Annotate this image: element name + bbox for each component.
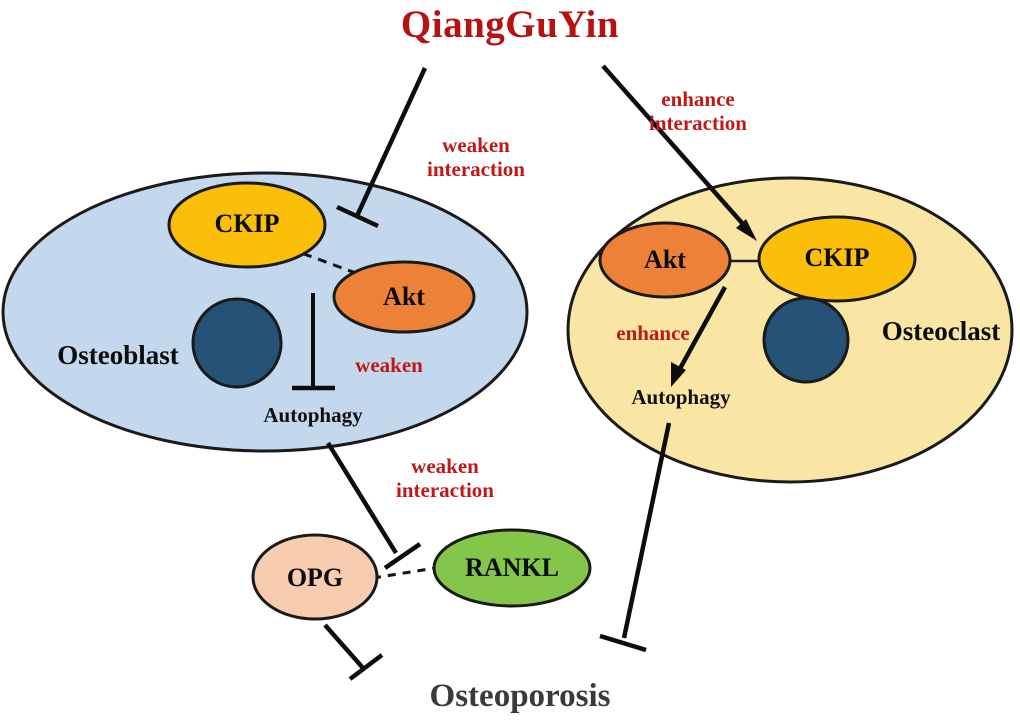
edge-autophagy-inhibits-osteoporosis	[600, 423, 669, 650]
opg-rankl-interaction	[373, 567, 442, 578]
diagram-vector-layer	[0, 0, 1020, 727]
ckip-node-left[interactable]	[169, 183, 325, 267]
akt-node-right[interactable]	[600, 223, 730, 297]
ckip-node-right[interactable]	[759, 217, 915, 301]
nucleus-right	[764, 298, 848, 382]
edge-autophagy-inhibits-opg-rankl	[328, 443, 420, 568]
pathway-diagram: QiangGuYin weaken interaction enhance in…	[0, 0, 1020, 727]
nucleus-left	[193, 299, 281, 387]
akt-node-left[interactable]	[334, 262, 474, 332]
edge-opg-inhibits-osteoporosis	[325, 625, 382, 679]
